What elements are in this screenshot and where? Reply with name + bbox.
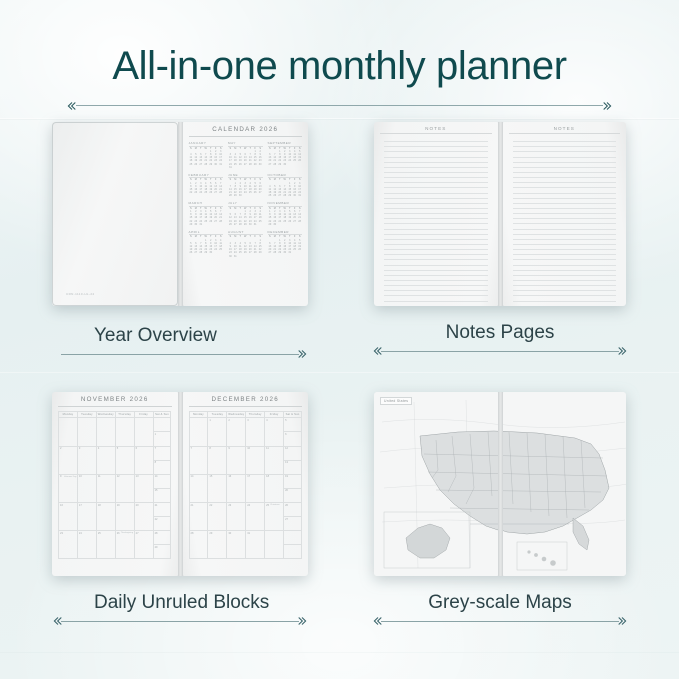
notes-right-page: NOTES (503, 122, 627, 306)
calendar-heading: CALENDAR 2026 (189, 126, 303, 137)
mini-month-days: SMTWTFS123456789101112131415161718192021… (228, 179, 263, 198)
chevron-right-icon (617, 616, 628, 626)
day-cell[interactable]: 15 (153, 489, 172, 503)
mini-month-days: SMTWTFS123456789101112131415161718192021… (189, 179, 224, 195)
monthly-right-page: DECEMBER 2026 MondayTuesdayWednesdayThur… (183, 392, 309, 576)
caption-label: Notes Pages (372, 322, 628, 344)
day-cell[interactable]: 19 (115, 503, 134, 531)
month-grid-left: 29Veterans Day1623310172441118255121926T… (58, 418, 172, 559)
mini-month-name: NOVEMBER (268, 201, 303, 207)
day-cell[interactable]: 17 (77, 503, 96, 531)
weekday-header-row-right: MondayTuesdayWednesdayThursdayFridaySat … (189, 411, 303, 418)
texture-streak (0, 372, 679, 373)
month-column: 29Veterans Day1623 (58, 418, 77, 559)
day-cell[interactable]: 18 (264, 475, 283, 503)
weekday-header-row-left: MondayTuesdayWednesdayThursdayFridaySat … (58, 411, 172, 418)
day-cell[interactable]: 10 (77, 475, 96, 503)
mini-month-days: SMTWTFS123456789101112131415161718192021… (189, 148, 224, 167)
day-cell[interactable]: 3 (77, 447, 96, 475)
month-column: 29162330 (226, 418, 245, 559)
texture-streak (0, 652, 679, 653)
month-column: 3101724 (77, 418, 96, 559)
mini-month-days: SMTWTFS123456789101112131415161718192021… (228, 236, 263, 258)
day-cell[interactable]: 29 (207, 531, 226, 559)
map-graphic-right (503, 392, 627, 576)
mini-month: MAYSMTWTFS123456789101112131415161718192… (228, 141, 263, 170)
mini-month: FEBRUARYSMTWTFS1234567891011121314151617… (189, 173, 224, 199)
day-cell[interactable]: 8 (207, 447, 226, 475)
book-spine (498, 122, 503, 306)
caption-year-overview: Year Overview (52, 325, 308, 360)
page-title: All-in-one monthly planner (0, 44, 679, 89)
chevron-right-icon (602, 101, 613, 111)
mini-month: MARCHSMTWTFS1234567891011121314151617181… (189, 201, 224, 227)
day-cell[interactable]: 1 (153, 432, 172, 446)
day-cell[interactable] (58, 418, 77, 446)
day-cell[interactable]: 18 (96, 503, 115, 531)
day-cell[interactable]: 16 (226, 475, 245, 503)
day-cell[interactable] (96, 418, 115, 446)
mini-month-name: JULY (228, 201, 263, 207)
day-cell[interactable]: 20 (283, 489, 302, 503)
texture-streak (0, 119, 679, 120)
day-cell[interactable]: 22 (207, 503, 226, 531)
mini-month: SEPTEMBERSMTWTFS123456789101112131415161… (268, 141, 303, 170)
map-left-page: United States (374, 392, 498, 576)
caption-daily-unruled-blocks: Daily Unruled Blocks (52, 592, 308, 627)
weekday-header: Monday (189, 411, 208, 418)
weekday-header: Thursday (115, 411, 134, 418)
panel-daily-unruled-blocks: NOVEMBER 2026 MondayTuesdayWednesdayThur… (52, 392, 308, 576)
day-cell[interactable] (189, 418, 208, 446)
day-cell[interactable] (134, 418, 153, 446)
day-cell[interactable]: 10 (245, 447, 264, 475)
day-cell[interactable]: 23 (226, 503, 245, 531)
notes-heading-right: NOTES (509, 126, 621, 134)
notes-heading-left: NOTES (380, 126, 492, 134)
mini-month-days: SMTWTFS123456789101112131415161718192021… (268, 208, 303, 227)
day-cell[interactable]: 9 (226, 447, 245, 475)
day-cell[interactable] (153, 418, 172, 432)
day-cell[interactable]: 15 (207, 475, 226, 503)
day-cell[interactable]: 2 (226, 418, 245, 446)
day-cell[interactable]: 14 (153, 475, 172, 489)
mini-month: DECEMBERSMTWTFS1234567891011121314151617… (268, 230, 303, 259)
month-column: 310172431 (245, 418, 264, 559)
panel-grey-scale-maps: United States (374, 392, 626, 576)
day-cell[interactable]: 25 (96, 531, 115, 559)
day-cell[interactable]: 6 (283, 432, 302, 446)
day-cell[interactable]: 21 (153, 503, 172, 517)
month-heading-left: NOVEMBER 2026 (58, 396, 172, 407)
day-cell[interactable]: 24 (77, 531, 96, 559)
day-cell[interactable]: 21 (189, 503, 208, 531)
book-spine (178, 122, 183, 306)
mini-month-days: SMTWTFS123456789101112131415161718192021… (268, 148, 303, 167)
month-heading-right: DECEMBER 2026 (189, 396, 303, 407)
day-cell[interactable]: 27 (283, 517, 302, 531)
chevron-left-icon (372, 346, 383, 356)
mini-month-days: SMTWTFS123456789101112131415161718192021… (268, 179, 303, 198)
day-cell[interactable]: 26Thanksgiving (115, 531, 134, 559)
month-column: 18152229 (207, 418, 226, 559)
mini-month-days: SMTWTFS123456789101112131415161718192021… (228, 208, 263, 227)
note-rule-line (384, 302, 488, 307)
weekday-header: Wednesday (226, 411, 245, 418)
weekday-header: Sat & Sun (153, 411, 172, 418)
day-cell[interactable]: 1 (207, 418, 226, 446)
mini-month: JANUARYSMTWTFS12345678910111213141516171… (189, 141, 224, 170)
day-cell[interactable]: 12 (115, 475, 134, 503)
day-cell[interactable]: 29 (153, 545, 172, 559)
weekday-header: Tuesday (207, 411, 226, 418)
day-cell[interactable]: 27 (134, 531, 153, 559)
day-cell[interactable]: 5 (283, 418, 302, 432)
day-cell[interactable]: 16 (58, 503, 77, 531)
map-right-page (503, 392, 627, 576)
weekday-header: Sat & Sun (283, 411, 302, 418)
mini-month-days: SMTWTFS123456789101112131415161718192021… (189, 236, 224, 255)
day-cell[interactable]: 28 (153, 531, 172, 545)
weekday-header: Friday (134, 411, 153, 418)
day-cell[interactable]: 7 (153, 447, 172, 461)
map-title: United States (380, 397, 412, 405)
mini-month-days: SMTWTFS123456789101112131415161718192021… (189, 208, 224, 227)
poster-background: All-in-one monthly planner CRN-1110-HL-2… (0, 0, 679, 679)
day-cell[interactable]: 13 (283, 461, 302, 475)
chevron-right-icon (297, 349, 308, 359)
caption-label: Daily Unruled Blocks (52, 592, 308, 614)
mini-month-name: MARCH (189, 201, 224, 207)
day-cell[interactable]: 3 (245, 418, 264, 446)
day-cell[interactable]: 7 (189, 447, 208, 475)
month-column: 56121319202627 (283, 418, 302, 559)
day-cell[interactable]: 13 (134, 475, 153, 503)
weekday-header: Thursday (245, 411, 264, 418)
day-cell[interactable]: 26 (283, 503, 302, 517)
caption-grey-scale-maps: Grey-scale Maps (372, 592, 628, 627)
year-overview-right-page: CALENDAR 2026 JANUARYSMTWTFS123456789101… (183, 122, 309, 306)
notes-left-page: NOTES (374, 122, 498, 306)
chevron-left-icon (372, 616, 383, 626)
mini-month: JULYSMTWTFS12345678910111213141516171819… (228, 201, 263, 227)
mini-month: APRILSMTWTFS1234567891011121314151617181… (189, 230, 224, 259)
day-cell[interactable]: 19 (283, 475, 302, 489)
chevron-left-icon (52, 616, 63, 626)
day-cell[interactable]: 23 (58, 531, 77, 559)
mini-month-days: SMTWTFS123456789101112131415161718192021… (268, 236, 303, 255)
month-grid-right: 714212818152229291623303101724314111825C… (189, 418, 303, 559)
day-cell[interactable]: 22 (153, 517, 172, 531)
caption-label: Grey-scale Maps (372, 592, 628, 614)
mini-month-name: MAY (228, 141, 263, 147)
day-cell[interactable]: 6 (134, 447, 153, 475)
day-cell[interactable]: 14 (189, 475, 208, 503)
month-column: 178141521222829 (153, 418, 172, 559)
day-cell[interactable]: 17 (245, 475, 264, 503)
weekday-header: Friday (264, 411, 283, 418)
month-column: 4111825 (96, 418, 115, 559)
year-overview-left-page: CRN-1110-HL-24 (52, 122, 178, 306)
title-underline (66, 101, 613, 111)
day-cell[interactable]: 11 (264, 447, 283, 475)
month-column: 6132027 (134, 418, 153, 559)
day-cell[interactable] (283, 531, 302, 545)
panel-notes-pages: NOTES NOTES (374, 122, 626, 306)
mini-month: JUNESMTWTFS12345678910111213141516171819… (228, 173, 263, 199)
day-cell[interactable]: 12 (283, 447, 302, 461)
weekday-header: Monday (58, 411, 77, 418)
day-cell[interactable] (77, 418, 96, 446)
chevron-right-icon (297, 616, 308, 626)
day-cell[interactable]: 9Veterans Day (58, 475, 77, 503)
year-month-grid: JANUARYSMTWTFS12345678910111213141516171… (189, 141, 303, 258)
monthly-left-page: NOVEMBER 2026 MondayTuesdayWednesdayThur… (52, 392, 178, 576)
panel-year-overview: CRN-1110-HL-24 CALENDAR 2026 JANUARYSMTW… (52, 122, 308, 306)
day-cell[interactable]: 2 (58, 447, 77, 475)
mini-month-name: JANUARY (189, 141, 224, 147)
caption-notes-pages: Notes Pages (372, 322, 628, 357)
chevron-left-icon (66, 101, 77, 111)
mini-month: OCTOBERSMTWTFS12345678910111213141516171… (268, 173, 303, 199)
day-cell[interactable]: 4 (264, 418, 283, 446)
day-cell[interactable]: 4 (96, 447, 115, 475)
day-cell[interactable]: 8 (153, 461, 172, 475)
map-graphic-left: United States (374, 392, 498, 576)
day-cell[interactable]: 30 (226, 531, 245, 559)
month-column: 7142128 (189, 418, 208, 559)
mini-month: NOVEMBERSMTWTFS1234567891011121314151617… (268, 201, 303, 227)
day-cell[interactable]: 24 (245, 503, 264, 531)
day-cell[interactable] (283, 545, 302, 559)
page-footer-mark: CRN-1110-HL-24 (66, 292, 95, 296)
day-cell[interactable] (115, 418, 134, 446)
weekday-header: Tuesday (77, 411, 96, 418)
day-cell[interactable]: 11 (96, 475, 115, 503)
caption-label: Year Overview (52, 325, 308, 347)
weekday-header: Wednesday (96, 411, 115, 418)
chevron-right-icon (617, 346, 628, 356)
day-cell[interactable] (264, 531, 283, 559)
mini-month-name: SEPTEMBER (268, 141, 303, 147)
day-cell[interactable]: 31 (245, 531, 264, 559)
note-rule-line (513, 302, 617, 307)
day-cell[interactable]: 20 (134, 503, 153, 531)
day-cell[interactable]: 5 (115, 447, 134, 475)
mini-month: AUGUSTSMTWTFS123456789101112131415161718… (228, 230, 263, 259)
day-cell[interactable]: 28 (189, 531, 208, 559)
month-column: 5121926Thanksgiving (115, 418, 134, 559)
day-cell[interactable]: 25Christmas (264, 503, 283, 531)
mini-month-days: SMTWTFS123456789101112131415161718192021… (228, 148, 263, 170)
book-spine (178, 392, 183, 576)
month-column: 4111825Christmas (264, 418, 283, 559)
